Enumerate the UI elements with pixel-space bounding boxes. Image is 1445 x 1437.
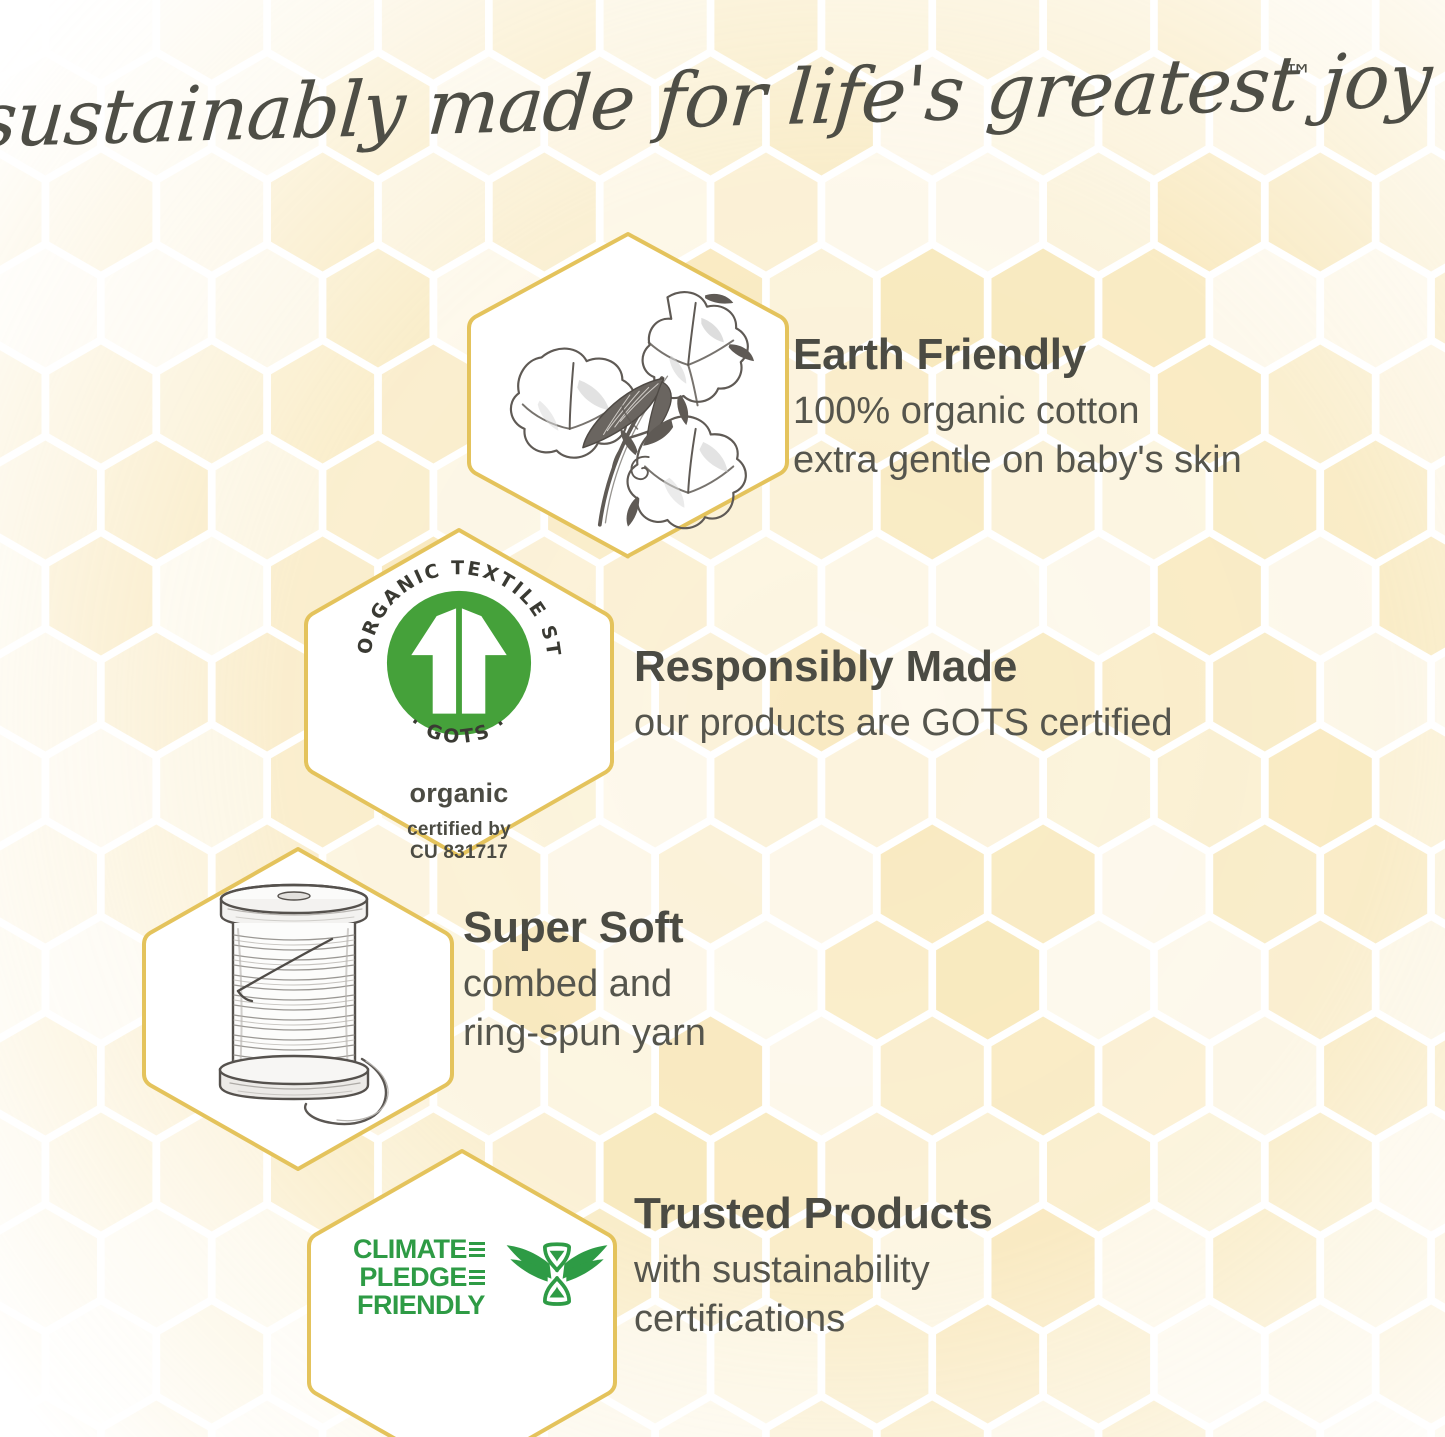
honeycomb-cell [1213, 633, 1316, 752]
honeycomb-cell [0, 1305, 42, 1424]
honeycomb-cell [1380, 153, 1445, 272]
honeycomb-cell [0, 729, 42, 848]
honeycomb-cell [1047, 1113, 1150, 1232]
honeycomb-cell [881, 825, 984, 944]
honeycomb-cell [1380, 345, 1445, 464]
cpf-bars-icon [469, 1242, 485, 1257]
honeycomb-cell [49, 1305, 152, 1424]
honeycomb-cell [49, 729, 152, 848]
honeycomb-cell [216, 249, 319, 368]
honeycomb-cell [714, 921, 817, 1040]
honeycomb-cell [1158, 153, 1261, 272]
feature-line: our products are GOTS certified [634, 699, 1173, 748]
honeycomb-cell [1269, 1305, 1372, 1424]
tagline-trademark: ™ [1283, 59, 1313, 94]
honeycomb-cell [1213, 1017, 1316, 1136]
honeycomb-cell [49, 537, 152, 656]
honeycomb-cell [49, 921, 152, 1040]
honeycomb-cell [770, 825, 873, 944]
honeycomb-cell [1047, 153, 1150, 272]
cpf-line-1: CLIMATE [353, 1235, 467, 1263]
climate-pledge-friendly-logo: CLIMATE PLEDGE FRIENDLY [353, 1235, 613, 1319]
honeycomb-cell [1102, 1209, 1205, 1328]
honeycomb-cell [992, 825, 1095, 944]
honeycomb-cell [326, 249, 429, 368]
honeycomb-cell [1324, 825, 1427, 944]
honeycomb-cell [0, 1209, 97, 1328]
feature-text-earth-friendly: Earth Friendly 100% organic cotton extra… [793, 333, 1242, 486]
honeycomb-cell [825, 921, 928, 1040]
honeycomb-cell [0, 441, 97, 560]
honeycomb-cell [271, 345, 374, 464]
honeycomb-cell [49, 1113, 152, 1232]
honeycomb-cell [1324, 633, 1427, 752]
honeycomb-cell [1158, 537, 1261, 656]
honeycomb-cell [1380, 1113, 1445, 1232]
honeycomb-cell [825, 537, 928, 656]
honeycomb-cell [160, 537, 263, 656]
honeycomb-cell [1213, 1209, 1316, 1328]
feature-line: certifications [634, 1295, 993, 1344]
honeycomb-cell [0, 345, 42, 464]
feature-heading: Super Soft [463, 906, 706, 950]
feature-line: combed and [463, 960, 706, 1009]
gots-green-disc [387, 591, 531, 735]
feature-text-trusted-products: Trusted Products with sustainability cer… [634, 1192, 993, 1345]
honeycomb-cell [0, 249, 97, 368]
honeycomb-cell [0, 1017, 97, 1136]
honeycomb-cell [1324, 249, 1427, 368]
honeycomb-cell [1324, 441, 1427, 560]
honeycomb-cell [105, 1209, 208, 1328]
honeycomb-cell [770, 1017, 873, 1136]
feature-line: extra gentle on baby's skin [793, 436, 1242, 485]
gots-organic-label: organic [300, 778, 618, 809]
honeycomb-cell [0, 825, 97, 944]
honeycomb-cell [1269, 1113, 1372, 1232]
honeycomb-cell [1102, 825, 1205, 944]
honeycomb-cell [105, 441, 208, 560]
honeycomb-cell [1158, 921, 1261, 1040]
honeycomb-cell [1380, 921, 1445, 1040]
honeycomb-cell [1380, 1305, 1445, 1424]
feature-line: ring-spun yarn [463, 1009, 706, 1058]
thread-spool-icon [176, 873, 426, 1143]
honeycomb-cell [1047, 921, 1150, 1040]
honeycomb-cell [1102, 1017, 1205, 1136]
honeycomb-cell [936, 921, 1039, 1040]
feature-hex-responsibly-made: GLOBAL ORGANIC TEXTILE STANDARD · GOTS ·… [300, 524, 618, 862]
honeycomb-cell [160, 345, 263, 464]
honeycomb-cell [0, 537, 42, 656]
honeycomb-cell [1158, 1305, 1261, 1424]
feature-line: 100% organic cotton [793, 387, 1242, 436]
honeycomb-cell [271, 153, 374, 272]
honeycomb-cell [1269, 345, 1372, 464]
tagline: sustainably made for life's greatest joy… [0, 44, 1445, 169]
feature-hex-earth-friendly [463, 228, 793, 562]
honeycomb-cell [825, 153, 928, 272]
honeycomb-cell [0, 1113, 42, 1232]
honeycomb-cell [1269, 729, 1372, 848]
feature-hex-super-soft [138, 843, 458, 1175]
tagline-text: sustainably made for life's greatest joy [0, 35, 1436, 165]
honeycomb-cell [1269, 921, 1372, 1040]
honeycomb-cell [1324, 1209, 1427, 1328]
honeycomb-cell [0, 921, 42, 1040]
feature-text-super-soft: Super Soft combed and ring-spun yarn [463, 906, 706, 1059]
honeycomb-cell [1047, 1305, 1150, 1424]
feature-heading: Responsibly Made [634, 645, 1173, 689]
cpf-bars-icon [469, 1270, 485, 1285]
honeycomb-cell [1324, 1017, 1427, 1136]
honeycomb-cell [992, 1209, 1095, 1328]
gots-logo: GLOBAL ORGANIC TEXTILE STANDARD · GOTS · [347, 548, 571, 772]
feature-line: with sustainability [634, 1246, 993, 1295]
feature-heading: Trusted Products [634, 1192, 993, 1236]
honeycomb-cell [1158, 1113, 1261, 1232]
cotton-flower-icon [487, 254, 769, 536]
honeycomb-cell [936, 153, 1039, 272]
honeycomb-cell [49, 345, 152, 464]
honeycomb-cell [160, 729, 263, 848]
honeycomb-cell [105, 249, 208, 368]
cpf-line-3: FRIENDLY [357, 1291, 485, 1319]
honeycomb-cell [936, 537, 1039, 656]
honeycomb-cell [1158, 729, 1261, 848]
infographic-canvas: sustainably made for life's greatest joy… [0, 0, 1445, 1437]
honeycomb-cell [160, 153, 263, 272]
honeycomb-cell [992, 1017, 1095, 1136]
honeycomb-cell [160, 1305, 263, 1424]
cpf-line-2: PLEDGE [359, 1263, 466, 1291]
honeycomb-cell [1380, 537, 1445, 656]
honeycomb-cell [105, 633, 208, 752]
feature-hex-trusted-products: CLIMATE PLEDGE FRIENDLY [303, 1145, 621, 1437]
honeycomb-cell [0, 153, 42, 272]
climate-pledge-wordmark: CLIMATE PLEDGE FRIENDLY [353, 1235, 485, 1319]
honeycomb-cell [881, 1017, 984, 1136]
feature-text-responsibly-made: Responsibly Made our products are GOTS c… [634, 645, 1173, 748]
feature-heading: Earth Friendly [793, 333, 1242, 377]
honeycomb-cell [0, 633, 97, 752]
honeycomb-cell [1213, 825, 1316, 944]
honeycomb-cell [1380, 729, 1445, 848]
honeycomb-cell [1269, 537, 1372, 656]
honeycomb-cell [1269, 153, 1372, 272]
honeycomb-cell [49, 153, 152, 272]
winged-hourglass-icon [501, 1239, 613, 1318]
honeycomb-cell [1047, 537, 1150, 656]
gots-certified-by: certified by [300, 818, 618, 841]
